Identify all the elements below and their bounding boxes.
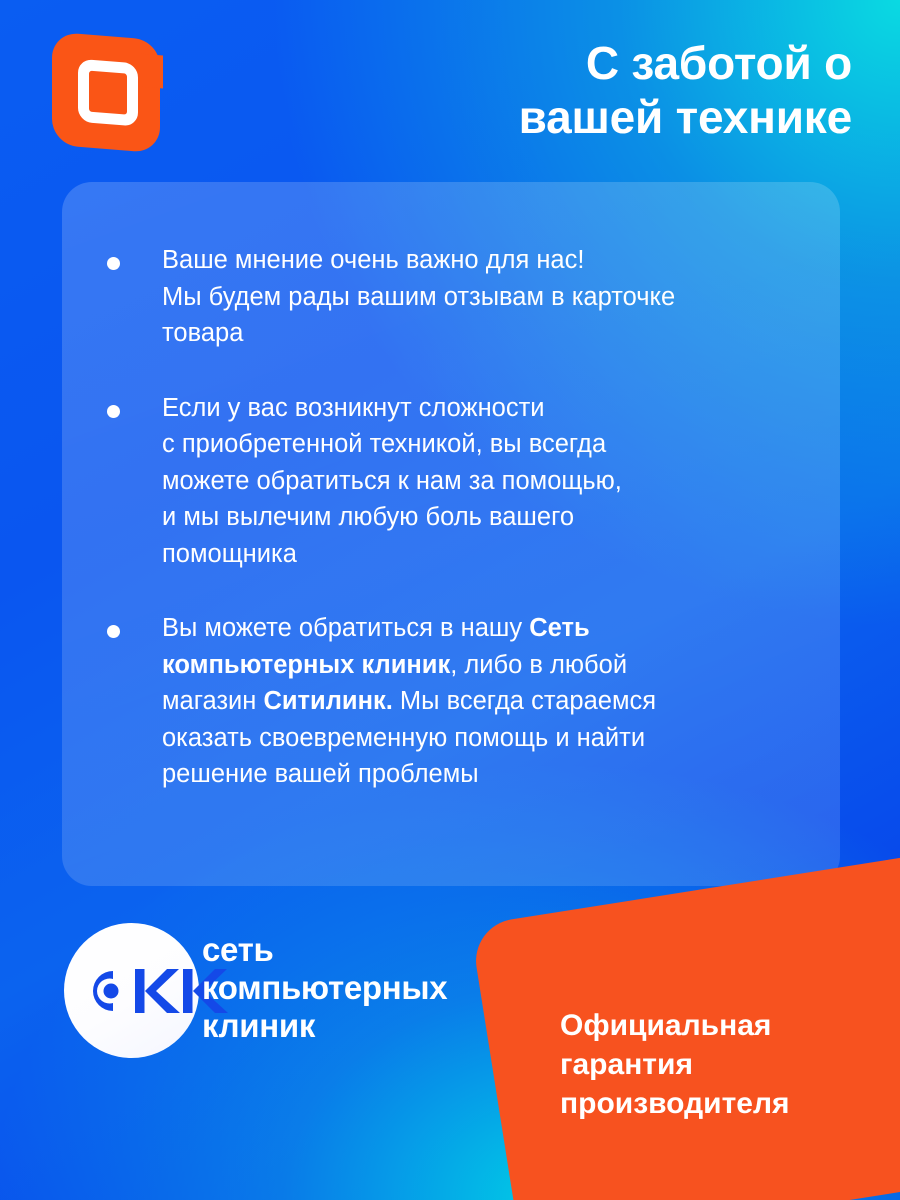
page-title: С заботой о вашей технике [292, 36, 852, 144]
skk-logo [64, 923, 199, 1058]
poster-footer: Официальная гарантия производителя сеть … [0, 886, 900, 1200]
skk-wordmark: сеть компьютерных клиник [202, 931, 447, 1045]
list-item: Если у вас возникнут сложности с приобре… [107, 390, 804, 573]
list-item: Ваше мнение очень важно для нас! Мы буде… [107, 242, 804, 352]
citilink-logo [52, 32, 160, 153]
headline-line-1: С заботой о [292, 36, 852, 90]
promo-poster: С заботой о вашей технике Ваше мнение оч… [0, 0, 900, 1200]
citilink-c-notch [141, 54, 163, 89]
info-card: Ваше мнение очень важно для нас! Мы буде… [62, 182, 840, 886]
citilink-c-glyph [78, 59, 138, 127]
poster-header: С заботой о вашей технике [0, 0, 900, 182]
bullet-prefix: Вы можете обратиться в нашу [162, 614, 529, 642]
bullet-text: Если у вас возникнут сложности с приобре… [162, 390, 804, 573]
bullet-dot-icon [107, 257, 120, 270]
warranty-banner-text: Официальная гарантия производителя [560, 1006, 880, 1123]
bullet-bold-citilink: Ситилинк. [263, 687, 392, 715]
bullet-text: Ваше мнение очень важно для нас! Мы буде… [162, 242, 804, 352]
bullet-dot-icon [107, 405, 120, 418]
bullet-text-rich: Вы можете обратиться в нашу Сеть компьют… [162, 610, 804, 793]
headline-line-2: вашей технике [292, 90, 852, 144]
bullet-list: Ваше мнение очень важно для нас! Мы буде… [107, 242, 804, 793]
list-item: Вы можете обратиться в нашу Сеть компьют… [107, 610, 804, 793]
bullet-dot-icon [107, 625, 120, 638]
